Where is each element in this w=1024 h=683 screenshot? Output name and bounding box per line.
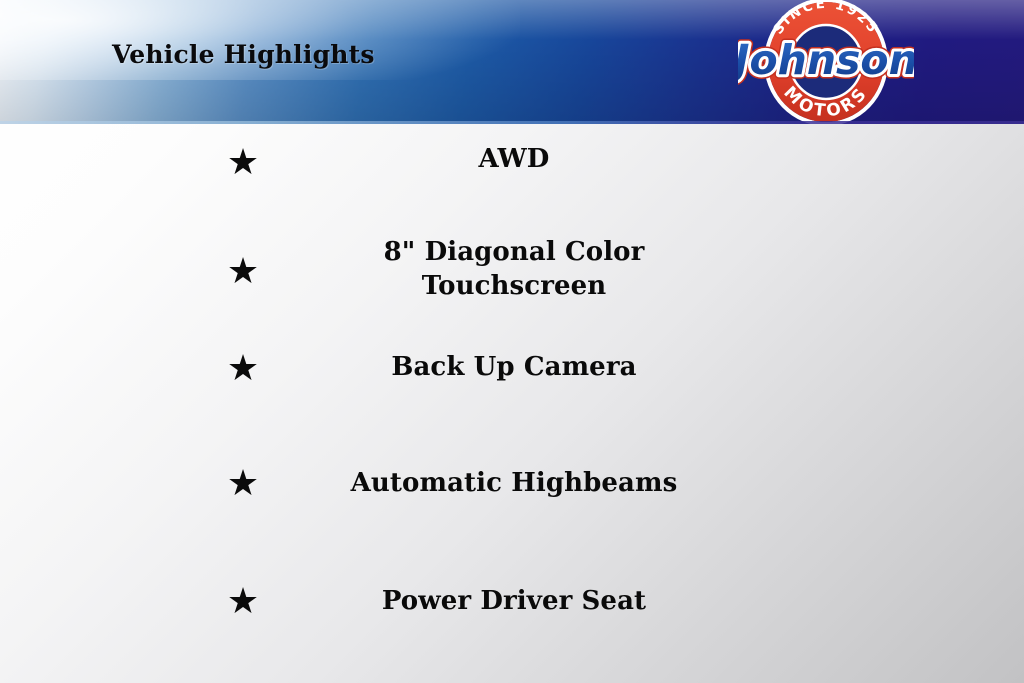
- johnson-motors-logo: SINCE 1925 MOTORS Johnson Johnson Johnso…: [738, 0, 914, 124]
- header-banner: Vehicle Highlights: [0, 0, 1024, 124]
- svg-text:Johnson: Johnson: [738, 36, 914, 84]
- star-icon: ★: [224, 584, 262, 620]
- logo-wordmark: Johnson Johnson Johnson: [738, 36, 914, 84]
- slide-root: Vehicle Highlights: [0, 0, 1024, 683]
- highlight-label: Power Driver Seat: [296, 584, 732, 618]
- highlight-label: AWD: [296, 142, 732, 176]
- highlight-label: 8" Diagonal Color Touchscreen: [296, 235, 732, 304]
- vehicle-highlights-list: ★ AWD ★ 8" Diagonal Color Touchscreen ★ …: [0, 124, 1024, 683]
- page-title: Vehicle Highlights: [112, 40, 375, 69]
- highlight-label: Back Up Camera: [296, 350, 732, 384]
- star-icon: ★: [224, 466, 262, 502]
- star-icon: ★: [224, 351, 262, 387]
- highlight-label: Automatic Highbeams: [276, 466, 752, 500]
- star-icon: ★: [224, 254, 262, 290]
- star-icon: ★: [224, 145, 262, 181]
